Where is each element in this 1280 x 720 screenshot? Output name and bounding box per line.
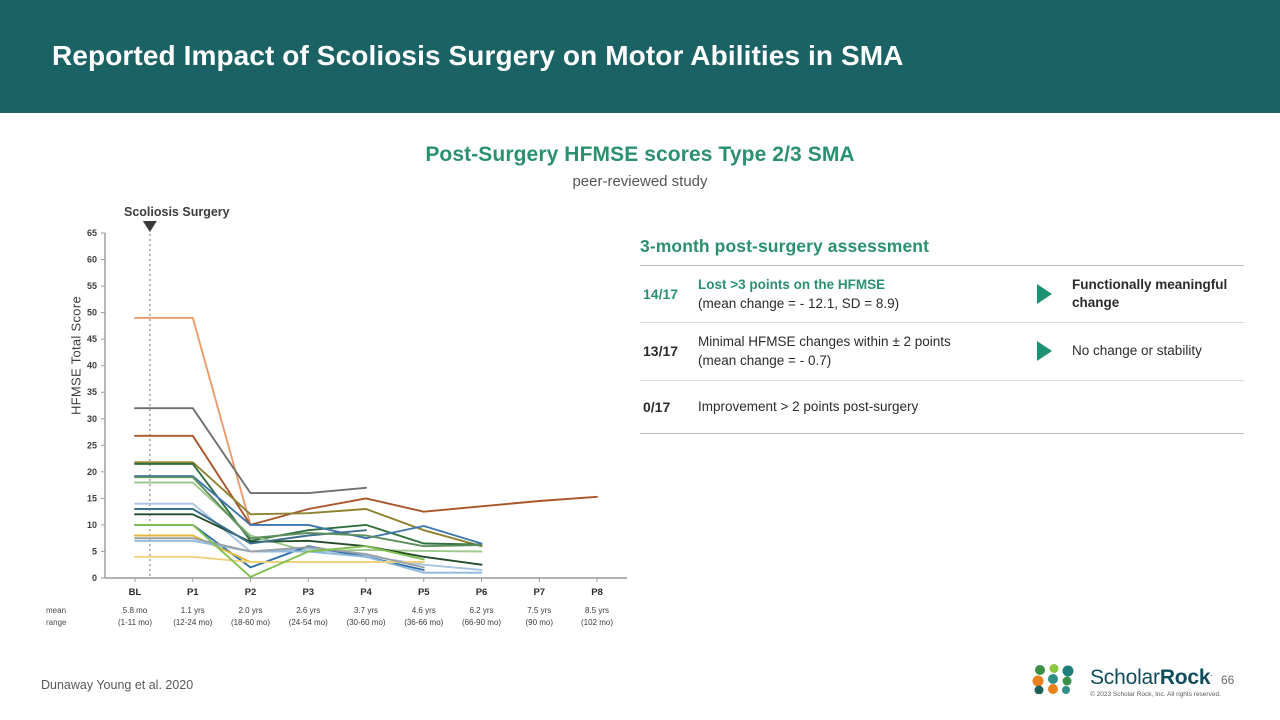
play-triangle-icon [1037, 341, 1052, 361]
row-outcome: Functionally meaningful change [1072, 276, 1244, 312]
assessment-panel: 3-month post-surgery assessment 14/17Los… [640, 236, 1244, 434]
chart-subtitle: peer-reviewed study [0, 173, 1280, 190]
y-tick-label: 40 [87, 361, 97, 371]
chart-line [135, 318, 251, 525]
y-tick-label: 10 [87, 520, 97, 530]
y-tick-label: 5 [92, 546, 97, 556]
row-description-sub: (mean change = - 0.7) [698, 351, 1016, 370]
x-tick-label: P6 [476, 587, 488, 598]
x-tick-label: P5 [418, 587, 430, 598]
row-outcome: No change or stability [1072, 342, 1244, 360]
meta-range-value: (102 mo) [581, 618, 613, 627]
panel-row: 0/17Improvement > 2 points post-surgery [640, 381, 1244, 433]
logo-word-rock: Rock [1160, 666, 1211, 689]
x-tick-label: P3 [302, 587, 314, 598]
meta-mean-value: 7.5 yrs [527, 606, 551, 615]
y-tick-label: 55 [87, 281, 97, 291]
chart-title: Post-Surgery HFMSE scores Type 2/3 SMA [0, 143, 1280, 167]
x-tick-label: P1 [187, 587, 199, 598]
y-tick-label: 25 [87, 440, 97, 450]
meta-range-value: (12-24 mo) [173, 618, 212, 627]
x-tick-label: BL [129, 587, 142, 598]
meta-mean-value: 4.6 yrs [412, 606, 436, 615]
meta-range-value: (24-54 mo) [289, 618, 328, 627]
panel-rows: 14/17Lost >3 points on the HFMSE(mean ch… [640, 266, 1244, 434]
panel-row: 14/17Lost >3 points on the HFMSE(mean ch… [640, 266, 1244, 322]
meta-range-value: (90 mo) [525, 618, 553, 627]
y-tick-label: 60 [87, 255, 97, 265]
logo-tm: . [1210, 668, 1212, 678]
meta-row-label-range: range [46, 618, 67, 627]
slide-root: Reported Impact of Scoliosis Surgery on … [0, 0, 1280, 720]
meta-range-value: (1-11 mo) [118, 618, 152, 627]
panel-title: 3-month post-surgery assessment [640, 236, 1244, 257]
logo-word-scholar: Scholar [1090, 666, 1160, 689]
y-tick-label: 15 [87, 493, 97, 503]
y-tick-label: 65 [87, 228, 97, 238]
x-tick-label: P7 [533, 587, 545, 598]
citation-text: Dunaway Young et al. 2020 [41, 678, 193, 692]
row-fraction: 14/17 [640, 286, 698, 302]
row-arrow [1016, 284, 1072, 304]
chart-line [135, 408, 366, 493]
row-description-main: Lost >3 points on the HFMSE [698, 277, 885, 292]
logo-mark-icon [1030, 664, 1082, 694]
row-description: Lost >3 points on the HFMSE(mean change … [698, 275, 1016, 313]
down-triangle-icon [143, 221, 157, 232]
scholar-rock-logo: ScholarRock. © 2023 Scholar Rock, Inc. A… [1030, 662, 1250, 706]
meta-mean-value: 6.2 yrs [469, 606, 493, 615]
y-tick-label: 35 [87, 387, 97, 397]
meta-mean-value: 1.1 yrs [181, 606, 205, 615]
panel-divider [640, 433, 1244, 434]
meta-range-value: (30-60 mo) [346, 618, 385, 627]
row-description-sub: (mean change = - 12.1, SD = 8.9) [698, 294, 1016, 313]
meta-mean-value: 2.0 yrs [238, 606, 262, 615]
line-chart: Scoliosis Surgery HFMSE Total Score 0510… [30, 198, 640, 638]
row-description: Improvement > 2 points post-surgery [698, 397, 1016, 416]
chart-svg: 05101520253035404550556065BLP1P2P3P4P5P6… [30, 198, 640, 638]
panel-row: 13/17Minimal HFMSE changes within ± 2 po… [640, 323, 1244, 379]
y-tick-label: 50 [87, 308, 97, 318]
x-tick-label: P4 [360, 587, 372, 598]
meta-range-value: (36-66 mo) [404, 618, 443, 627]
row-arrow [1016, 341, 1072, 361]
y-tick-label: 30 [87, 414, 97, 424]
meta-row-label-mean: mean [46, 606, 66, 615]
meta-range-value: (18-60 mo) [231, 618, 270, 627]
meta-mean-value: 3.7 yrs [354, 606, 378, 615]
row-description-main: Improvement > 2 points post-surgery [698, 399, 918, 414]
y-tick-label: 45 [87, 334, 97, 344]
page-title: Reported Impact of Scoliosis Surgery on … [52, 40, 903, 72]
logo-wordmark: ScholarRock. [1090, 666, 1213, 690]
copyright-text: © 2023 Scholar Rock, Inc. All rights res… [1090, 691, 1221, 698]
meta-range-value: (66-90 mo) [462, 618, 501, 627]
row-fraction: 13/17 [640, 343, 698, 359]
meta-mean-value: 2.6 yrs [296, 606, 320, 615]
x-tick-label: P8 [591, 587, 603, 598]
y-tick-label: 0 [92, 573, 97, 583]
row-description-main: Minimal HFMSE changes within ± 2 points [698, 334, 951, 349]
meta-mean-value: 8.5 yrs [585, 606, 609, 615]
page-number: 66 [1221, 673, 1234, 687]
y-tick-label: 20 [87, 467, 97, 477]
row-fraction: 0/17 [640, 399, 698, 415]
row-description: Minimal HFMSE changes within ± 2 points(… [698, 332, 1016, 370]
meta-mean-value: 5.8 mo [123, 606, 148, 615]
play-triangle-icon [1037, 284, 1052, 304]
x-tick-label: P2 [245, 587, 257, 598]
